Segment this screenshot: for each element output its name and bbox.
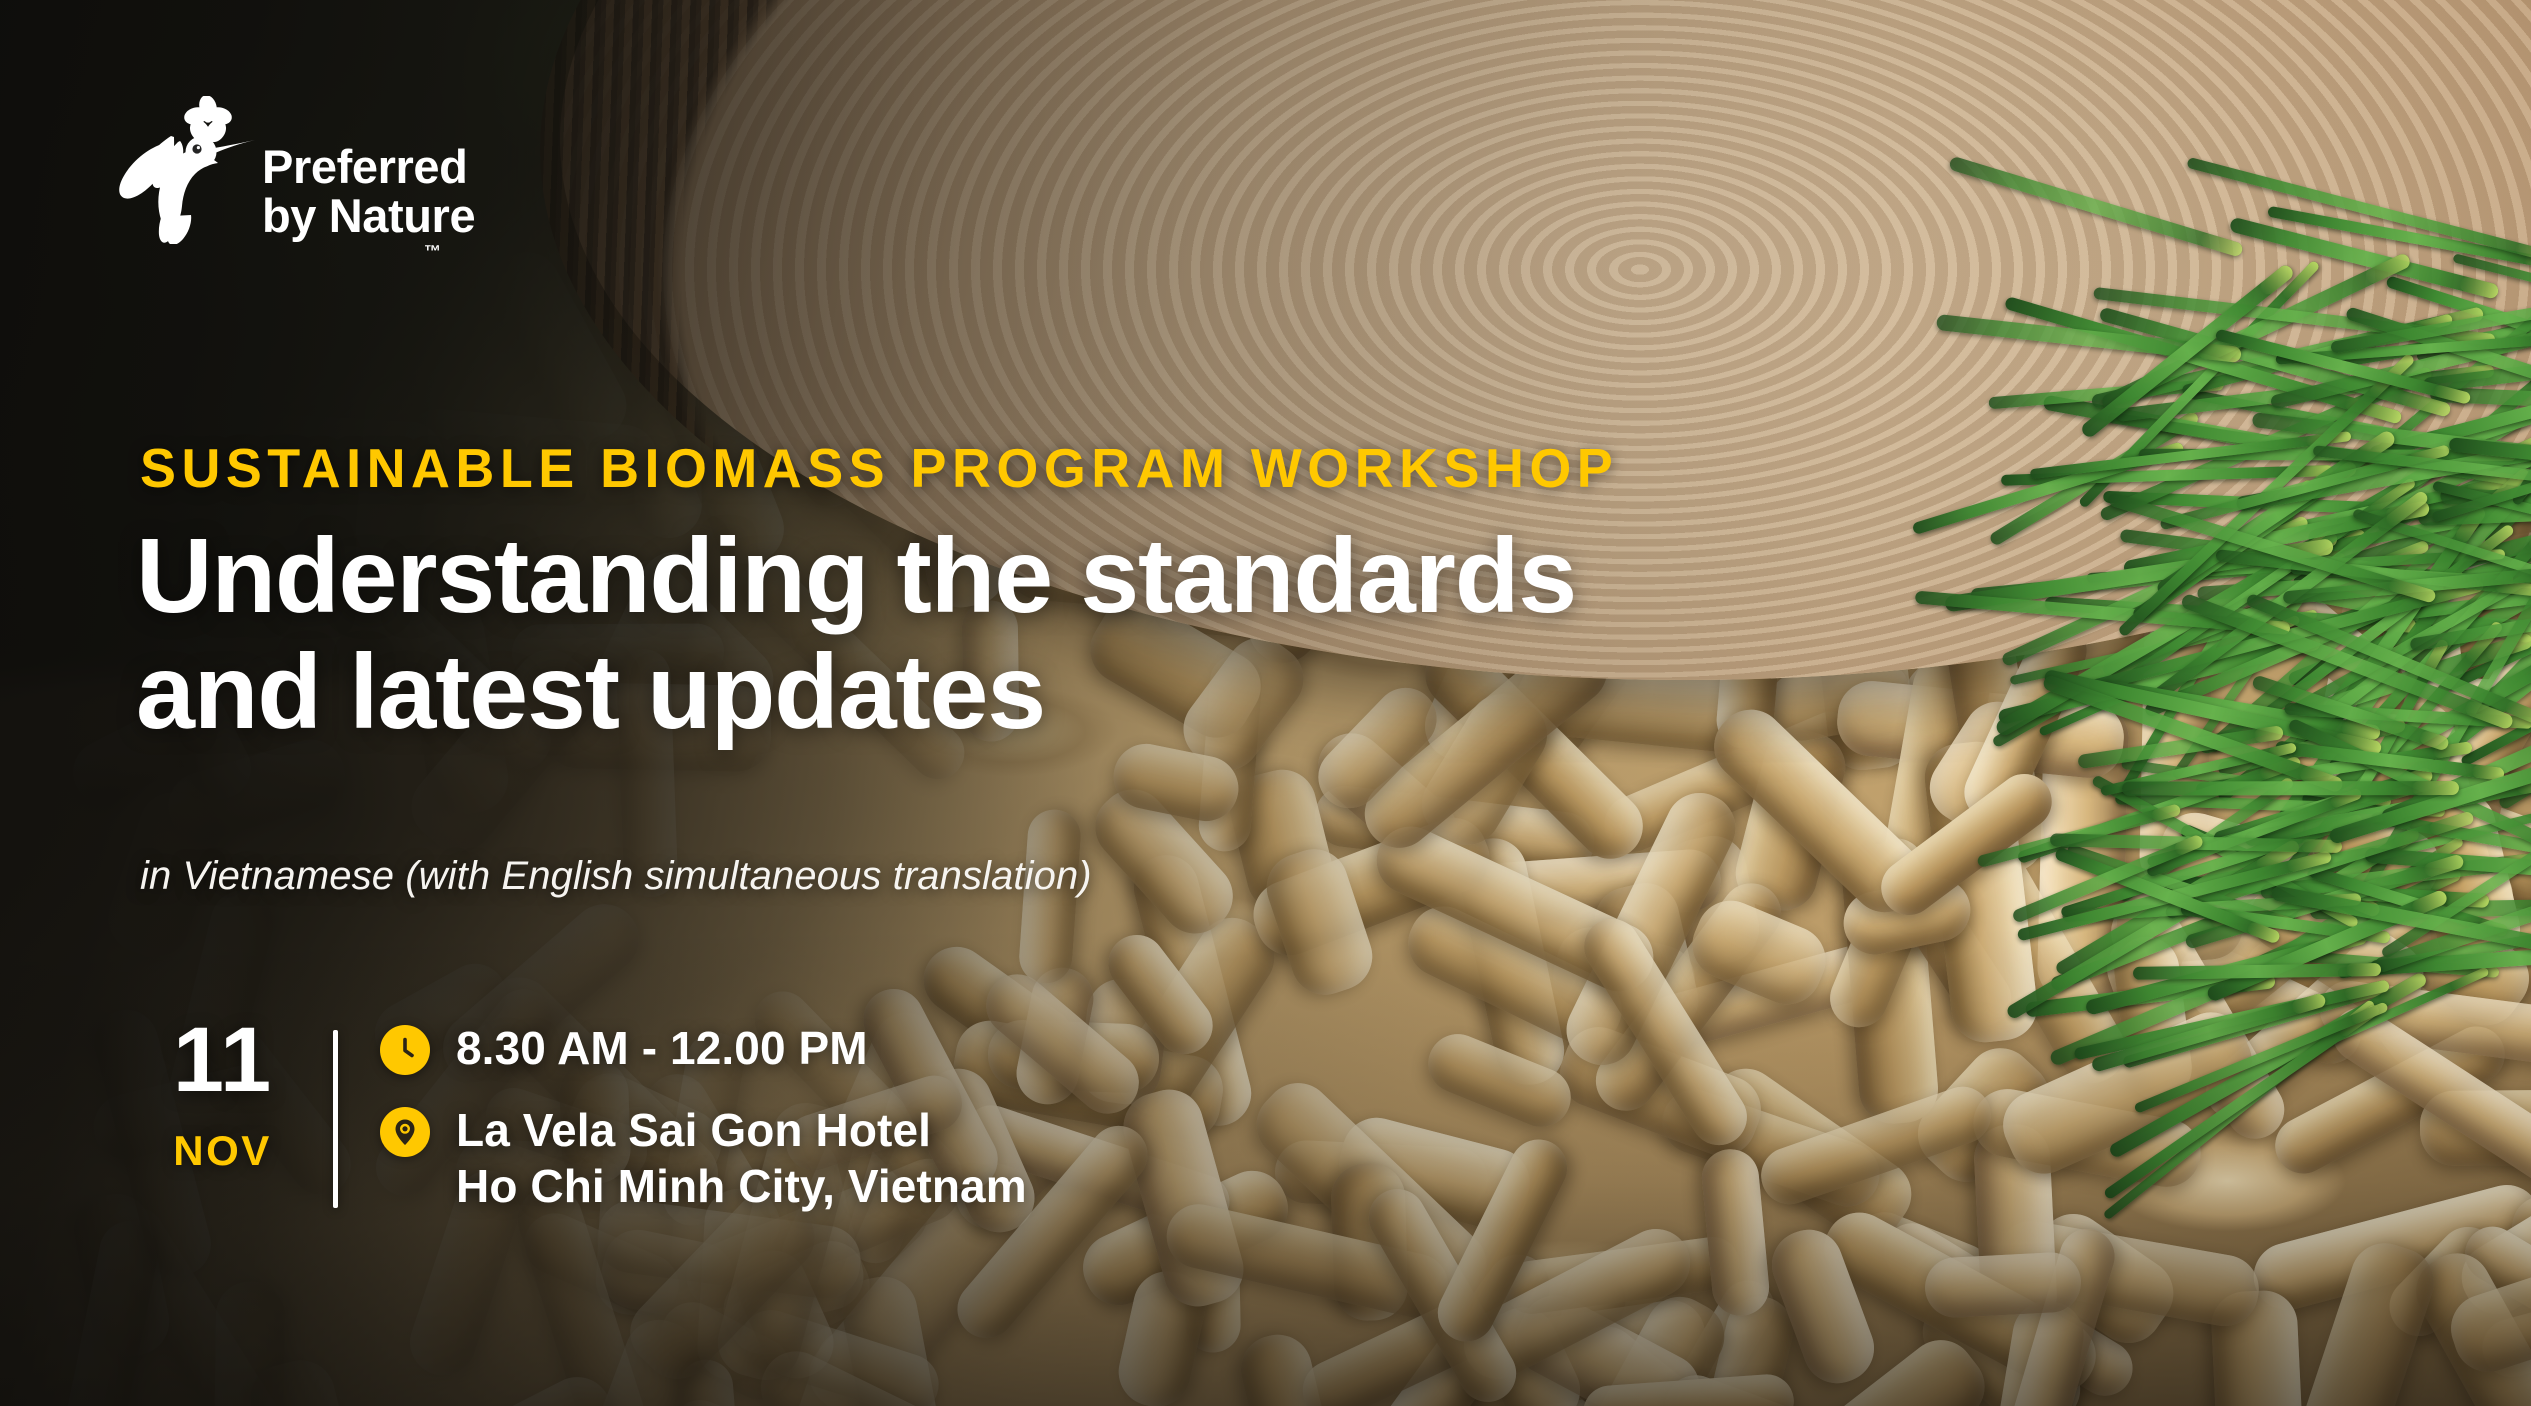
event-banner: Preferred by Nature ™ SUSTAINABLE BIOMAS… [0, 0, 2531, 1406]
subtitle-text: in Vietnamese (with English simultaneous… [140, 854, 1092, 899]
brand-name: Preferred by Nature [262, 142, 475, 240]
banner-content: Preferred by Nature ™ SUSTAINABLE BIOMAS… [0, 0, 2531, 1406]
event-location-row: La Vela Sai Gon Hotel Ho Chi Minh City, … [380, 1102, 1027, 1214]
eyebrow-text: SUSTAINABLE BIOMASS PROGRAM WORKSHOP [140, 436, 1618, 500]
brand-logo: Preferred by Nature ™ [108, 96, 475, 244]
event-date: 11 NOV [140, 1000, 305, 1174]
date-month: NOV [140, 1128, 305, 1174]
location-pin-icon [380, 1107, 430, 1157]
hummingbird-flower-logo-icon [108, 96, 258, 244]
clock-icon [380, 1025, 430, 1075]
event-time-row: 8.30 AM - 12.00 PM [380, 1020, 1027, 1076]
date-day: 11 [140, 1014, 305, 1106]
vertical-divider [333, 1030, 338, 1208]
event-location-label: La Vela Sai Gon Hotel Ho Chi Minh City, … [456, 1102, 1027, 1214]
event-time-label: 8.30 AM - 12.00 PM [456, 1020, 868, 1076]
event-info-column: 8.30 AM - 12.00 PM La Vela Sai Gon Hotel… [380, 1000, 1027, 1214]
page-title: Understanding the standards and latest u… [136, 518, 1576, 750]
trademark-symbol: ™ [424, 242, 441, 262]
event-details: 11 NOV 8.30 AM - 12.00 PM [140, 1000, 1027, 1214]
